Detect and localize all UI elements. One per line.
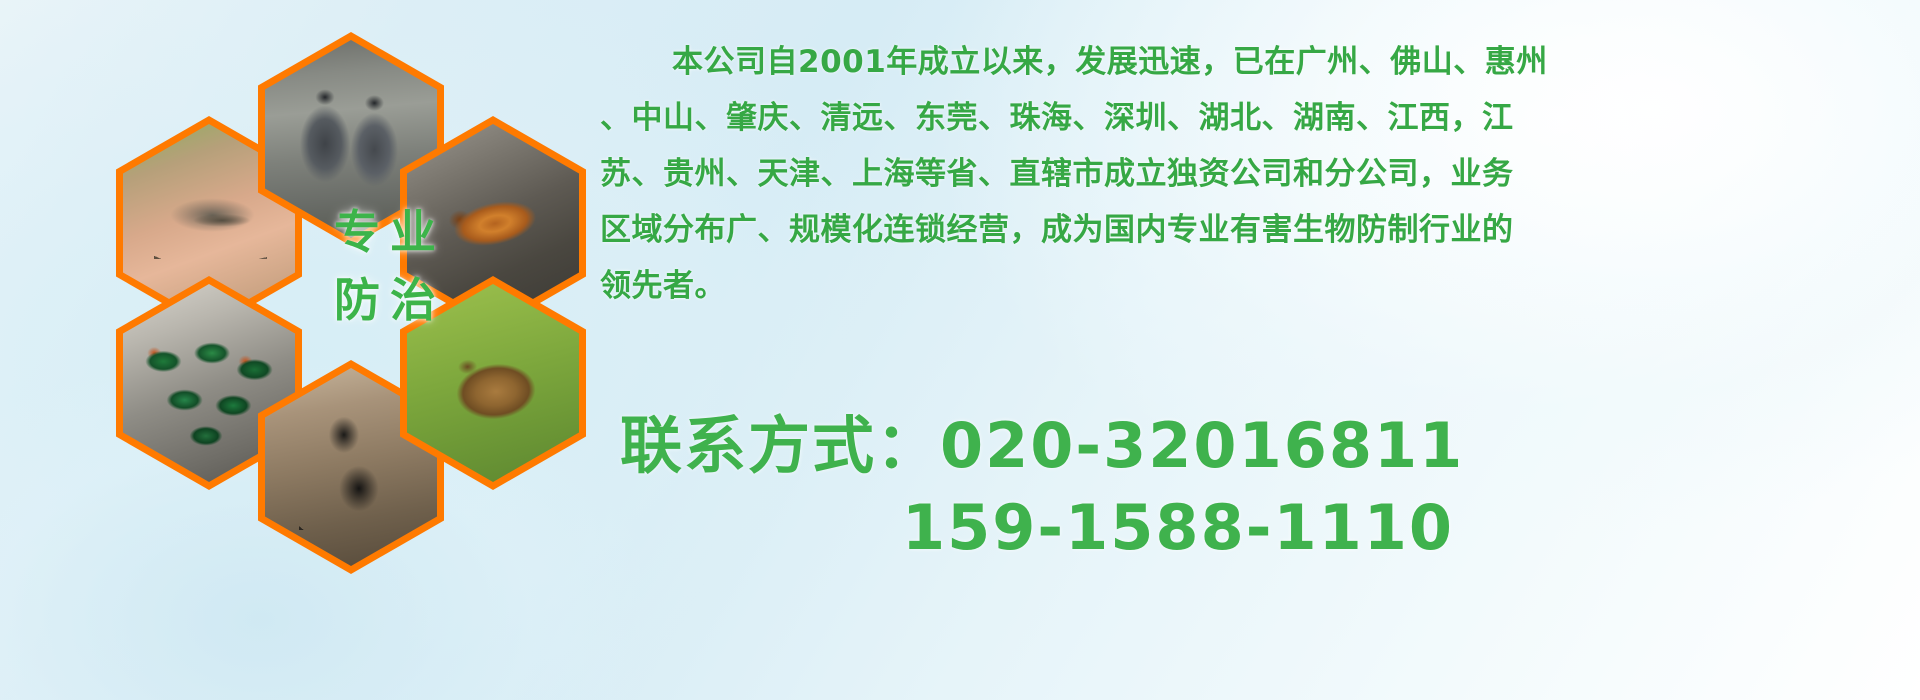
intro-copy-block: 本公司自2001年成立以来，发展迅速，已在广州、佛山、惠州 、中山、肇庆、清远、… [600,34,1890,314]
hexagon-photo-cluster: 专业 防治 [78,8,598,578]
contact-primary-line[interactable]: 联系方式：020-32016811 [620,405,1910,487]
hex-cluster-label-line1: 专业 [310,198,470,266]
contact-block: 联系方式：020-32016811 159-1588-1110 [620,405,1910,569]
intro-line-2: 、中山、肇庆、清远、东莞、珠海、深圳、湖北、湖南、江西，江 [600,90,1890,146]
promo-banner: 专业 防治 本公司自2001年成立以来，发展迅速，已在广州、佛山、惠州 、中山、… [0,0,1920,700]
company-intro-paragraph: 本公司自2001年成立以来，发展迅速，已在广州、佛山、惠州 、中山、肇庆、清远、… [600,34,1890,314]
intro-line-3: 苏、贵州、天津、上海等省、直辖市成立独资公司和分公司，业务 [600,146,1890,202]
intro-line-5: 领先者。 [600,258,1890,314]
hex-cluster-label-line2: 防治 [310,266,470,334]
hex-cluster-label: 专业 防治 [310,198,470,334]
intro-line-4: 区域分布广、规模化连锁经营，成为国内专业有害生物防制行业的 [600,202,1890,258]
contact-secondary-line[interactable]: 159-1588-1110 [620,487,1910,569]
intro-line-1: 本公司自2001年成立以来，发展迅速，已在广州、佛山、惠州 [600,34,1890,90]
